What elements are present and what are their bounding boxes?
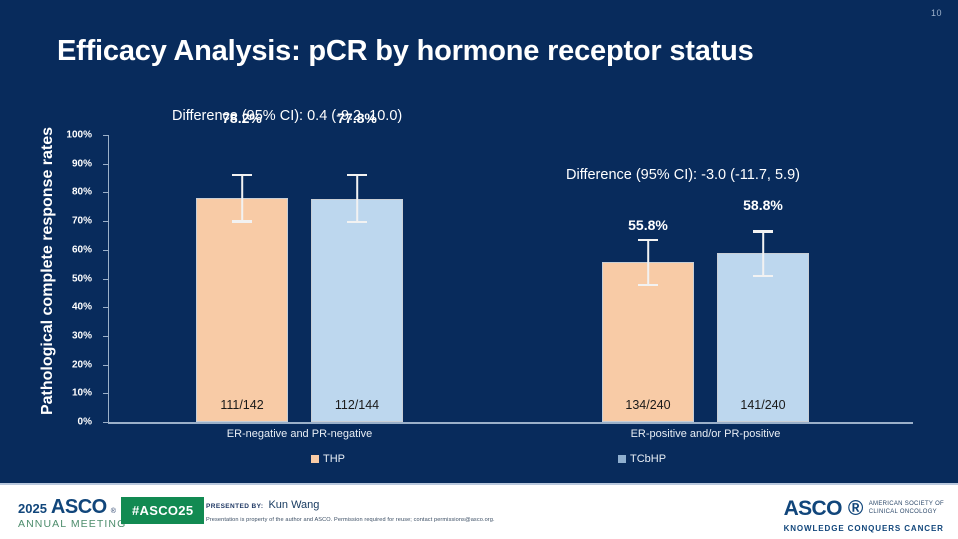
- y-tick-label: 90%: [46, 158, 92, 169]
- error-bar-thp-group1: [196, 174, 288, 223]
- copyright-disclaimer: Presentation is property of the author a…: [206, 517, 495, 523]
- y-tick: [103, 393, 108, 394]
- y-axis-line: [108, 135, 109, 423]
- error-bar-cap-lower: [232, 220, 252, 222]
- presented-by: PRESENTED BY: Kun Wang: [206, 499, 319, 511]
- error-bar-cap-lower: [638, 284, 658, 286]
- error-bar-cap-upper: [347, 174, 367, 176]
- bar-value-label: 77.8%: [311, 110, 403, 126]
- bar-column-thp-group2[interactable]: 55.8% 134/240: [602, 135, 694, 422]
- slide-footer: 2025 ASCO® ANNUAL MEETING #ASCO25 PRESEN…: [0, 483, 958, 539]
- legend-item-thp[interactable]: THP: [311, 453, 345, 465]
- registered-mark-icon: ®: [848, 497, 863, 521]
- bar-column-tcbhp-group1[interactable]: 77.8% 112/144: [311, 135, 403, 422]
- y-tick: [103, 250, 108, 251]
- bar-value-label: 55.8%: [602, 217, 694, 233]
- registered-mark-icon: ®: [111, 508, 116, 515]
- error-bar-cap-lower: [347, 221, 367, 223]
- bar-thp-group1[interactable]: 111/142: [196, 198, 288, 423]
- asco-annual-meeting-logo: 2025 ASCO® ANNUAL MEETING: [18, 497, 126, 530]
- presenter-name: Kun Wang: [268, 499, 319, 511]
- y-tick-label: 70%: [46, 216, 92, 227]
- legend-swatch-icon: [618, 455, 626, 463]
- bar-tcbhp-group1[interactable]: 112/144: [311, 199, 403, 422]
- asco-organization-logo: ASCO® AMERICAN SOCIETY OF CLINICAL ONCOL…: [784, 497, 944, 533]
- y-tick: [103, 135, 108, 136]
- org-name-line2: CLINICAL ONCOLOGY: [869, 509, 937, 515]
- error-bar-cap-lower: [753, 275, 773, 277]
- presented-by-label: PRESENTED BY:: [206, 503, 263, 510]
- bar-value-label: 58.8%: [717, 197, 809, 213]
- y-tick-label: 100%: [46, 130, 92, 141]
- error-bar-stem: [241, 174, 243, 223]
- bar-fraction-label: 134/240: [603, 398, 693, 412]
- y-tick: [103, 336, 108, 337]
- error-bar-thp-group2: [602, 239, 694, 286]
- bar-column-thp-group1[interactable]: 78.2% 111/142: [196, 135, 288, 422]
- y-tick: [103, 221, 108, 222]
- category-label-group2: ER-positive and/or PR-positive: [602, 428, 809, 440]
- error-bar-cap-upper: [232, 174, 252, 176]
- y-tick: [103, 365, 108, 366]
- y-tick: [103, 307, 108, 308]
- error-bar-cap-upper: [753, 230, 773, 232]
- bar-fraction-label: 141/240: [718, 398, 808, 412]
- slide-canvas: 10 Efficacy Analysis: pCR by hormone rec…: [0, 0, 958, 539]
- y-tick-label: 20%: [46, 359, 92, 370]
- y-tick: [103, 192, 108, 193]
- y-axis-tick-labels: 100% 90% 80% 70% 60% 50% 40% 30% 20% 10%…: [46, 0, 92, 483]
- bar-fraction-label: 112/144: [312, 398, 402, 412]
- error-bar-tcbhp-group1: [311, 174, 403, 223]
- bar-tcbhp-group2[interactable]: 141/240: [717, 253, 809, 422]
- asco-wordmark: ASCO: [51, 497, 107, 517]
- org-name-line1: AMERICAN SOCIETY OF: [869, 501, 944, 507]
- y-tick-label: 30%: [46, 330, 92, 341]
- error-bar-stem: [356, 174, 358, 223]
- meeting-year: 2025: [18, 502, 47, 515]
- legend-label: THP: [323, 453, 345, 465]
- y-tick-label: 10%: [46, 388, 92, 399]
- error-bar-stem: [762, 230, 764, 277]
- x-axis-line: [108, 422, 913, 424]
- bar-column-tcbhp-group2[interactable]: 58.8% 141/240: [717, 135, 809, 422]
- bar-chart: Pathological complete response rates 100…: [0, 0, 958, 483]
- meeting-name: ANNUAL MEETING: [18, 519, 126, 530]
- hashtag-badge[interactable]: #ASCO25: [121, 497, 204, 524]
- legend-item-tcbhp[interactable]: TCbHP: [618, 453, 666, 465]
- legend-label: TCbHP: [630, 453, 666, 465]
- bar-value-label: 78.2%: [196, 110, 288, 126]
- bar-fraction-label: 111/142: [197, 398, 287, 412]
- y-tick-label: 80%: [46, 187, 92, 198]
- y-tick: [103, 279, 108, 280]
- legend-swatch-icon: [311, 455, 319, 463]
- category-label-group1: ER-negative and PR-negative: [196, 428, 403, 440]
- error-bar-stem: [647, 239, 649, 286]
- y-tick-label: 40%: [46, 302, 92, 313]
- y-tick: [103, 164, 108, 165]
- error-bar-tcbhp-group2: [717, 230, 809, 277]
- y-tick-label: 0%: [46, 417, 92, 428]
- asco-org-wordmark: ASCO: [784, 497, 842, 521]
- error-bar-cap-upper: [638, 239, 658, 241]
- y-tick-label: 50%: [46, 273, 92, 284]
- y-tick-label: 60%: [46, 244, 92, 255]
- org-tagline: KNOWLEDGE CONQUERS CANCER: [784, 524, 944, 533]
